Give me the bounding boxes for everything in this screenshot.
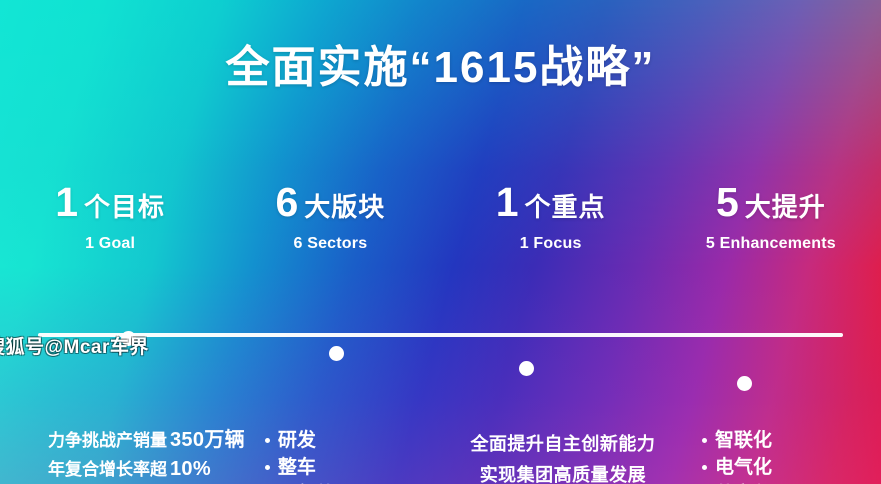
enhancement-list: 智联化 电气化 共享化 国际化 数字化 [669,427,881,484]
header-cn-label-focus: 个重点 [525,194,606,220]
column-body-focus: 全面提升自主创新能力 实现集团高质量发展 [457,427,669,484]
list-item: 电气化 [702,454,881,481]
list-item-label: 电气化 [715,454,772,481]
header-cn-label-sectors: 大版块 [304,194,385,220]
strategy-slide: 全面实施“1615战略” 1 个目标 1 Goal 6 大版块 6 Sector… [0,0,881,484]
goal-list: 力争挑战产销量350万辆 年复合增长率超10% 营业收入超6000亿 利税总额超… [0,427,245,484]
list-item: 共享化 [702,481,881,484]
list-item: 零部件 [265,481,457,484]
list-item: 整车 [265,454,457,481]
goal-value: 10% [170,458,211,480]
header-cn-label-enhancements: 大提升 [745,194,826,220]
list-item-label: 研发 [278,427,316,454]
column-header-sectors: 6 大版块 6 Sectors [220,182,440,253]
header-main-focus: 1 个重点 [441,182,661,223]
goal-line: 力争挑战产销量350万辆 [48,427,245,454]
bullet-dot-icon [702,465,707,470]
focus-statement: 全面提升自主创新能力 [457,429,669,460]
column-header-enhancements: 5 大提升 5 Enhancements [661,182,881,253]
column-body-enhancements: 智联化 电气化 共享化 国际化 数字化 [669,427,881,484]
list-item: 研发 [265,427,457,454]
list-item-label: 共享化 [715,481,772,484]
header-main-enhancements: 5 大提升 [661,182,881,223]
header-number-enhancements: 5 [716,182,739,223]
goal-lead: 年复合增长率超 [48,460,167,479]
focus-statement: 实现集团高质量发展 [457,460,669,484]
goal-line: 年复合增长率超10% [48,456,245,483]
goal-lead: 力争挑战产销量 [48,431,167,450]
header-en-label-enhancements: 5 Enhancements [661,235,881,253]
column-body-sectors: 研发 整车 零部件 商贸 金融 出行 [245,427,457,484]
header-en-label-goal: 1 Goal [0,235,220,253]
bullet-dot-icon [265,438,270,443]
bullet-dot-icon [702,438,707,443]
header-en-label-sectors: 6 Sectors [220,235,440,253]
watermark: 搜狐号@Mcar车界 [0,332,867,359]
column-header-goal: 1 个目标 1 Goal [0,182,220,253]
divider-node-3 [519,361,534,376]
header-en-label-focus: 1 Focus [441,235,661,253]
sector-list: 研发 整车 零部件 商贸 金融 出行 [245,427,457,484]
column-bodies: 力争挑战产销量350万辆 年复合增长率超10% 营业收入超6000亿 利税总额超… [0,427,881,484]
header-number-focus: 1 [496,182,519,223]
header-cn-label-goal: 个目标 [84,194,165,220]
page-title: 全面实施“1615战略” [0,43,881,94]
column-body-goal: 力争挑战产销量350万辆 年复合增长率超10% 营业收入超6000亿 利税总额超… [0,427,245,484]
list-item-label: 零部件 [278,481,335,484]
header-main-goal: 1 个目标 [0,182,220,223]
bullet-dot-icon [265,465,270,470]
header-number-sectors: 6 [275,182,298,223]
list-item: 智联化 [702,427,881,454]
column-header-focus: 1 个重点 1 Focus [441,182,661,253]
divider-node-4 [737,376,752,391]
goal-value: 350万辆 [170,429,245,451]
column-headers: 1 个目标 1 Goal 6 大版块 6 Sectors 1 个重点 1 Foc… [0,182,881,253]
list-item-label: 整车 [278,454,316,481]
header-main-sectors: 6 大版块 [220,182,440,223]
list-item-label: 智联化 [715,427,772,454]
header-number-goal: 1 [55,182,78,223]
